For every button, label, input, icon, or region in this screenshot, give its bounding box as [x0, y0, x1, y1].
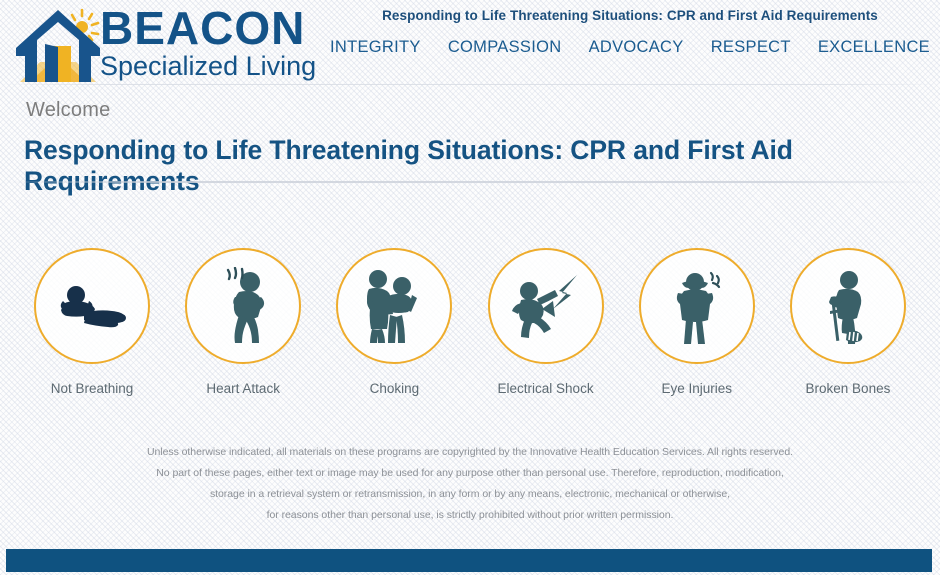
topic-label-not-breathing: Not Breathing [51, 381, 134, 396]
header-divider [0, 84, 940, 85]
topic-circle-heart-attack[interactable] [185, 248, 301, 364]
person-with-crutch-cast-icon [819, 267, 877, 345]
copyright-line-3: storage in a retrieval system or retrans… [70, 488, 870, 501]
footer-bar [6, 549, 932, 572]
title-divider [0, 181, 940, 183]
nav-value-advocacy[interactable]: ADVOCACY [589, 38, 684, 57]
topic-item-eye-injuries[interactable]: Eye Injuries [623, 248, 771, 396]
topic-item-heart-attack[interactable]: Heart Attack [169, 248, 317, 396]
nav-value-excellence[interactable]: EXCELLENCE [818, 38, 930, 57]
header-course-title: Responding to Life Threatening Situation… [330, 8, 930, 23]
copyright-line-4: for reasons other than personal use, is … [70, 509, 870, 522]
person-clutching-chest-icon [215, 267, 271, 345]
topic-item-broken-bones[interactable]: Broken Bones [774, 248, 922, 396]
brand-wordmark: BEACON Specialized Living [100, 8, 330, 80]
welcome-label: Welcome [26, 99, 110, 122]
nav-value-compassion[interactable]: COMPASSION [448, 38, 562, 57]
copyright-line-2: No part of these pages, either text or i… [70, 467, 870, 480]
nav-value-respect[interactable]: RESPECT [711, 38, 791, 57]
topic-item-choking[interactable]: Choking [320, 248, 468, 396]
topic-label-choking: Choking [370, 381, 420, 396]
topic-circle-not-breathing[interactable] [34, 248, 150, 364]
topic-label-heart-attack: Heart Attack [206, 381, 280, 396]
copyright-notice: Unless otherwise indicated, all material… [70, 446, 870, 530]
brand-logo[interactable]: BEACON Specialized Living [12, 2, 322, 84]
topic-icon-row: Not Breathing [18, 248, 922, 396]
core-values-nav: INTEGRITY COMPASSION ADVOCACY RESPECT EX… [330, 38, 930, 57]
site-header: BEACON Specialized Living Responding to … [0, 0, 940, 84]
topic-circle-choking[interactable] [336, 248, 452, 364]
topic-label-broken-bones: Broken Bones [806, 381, 891, 396]
topic-item-electrical-shock[interactable]: Electrical Shock [472, 248, 620, 396]
topic-label-eye-injuries: Eye Injuries [661, 381, 732, 396]
brand-name-primary: BEACON [100, 8, 330, 48]
copyright-line-1: Unless otherwise indicated, all material… [70, 446, 870, 459]
brand-name-secondary: Specialized Living [100, 52, 330, 80]
heimlich-maneuver-icon [360, 267, 428, 345]
house-with-sun-icon [12, 6, 104, 84]
person-lightning-bolt-icon [509, 269, 583, 343]
topic-label-electrical-shock: Electrical Shock [498, 381, 594, 396]
nav-value-integrity[interactable]: INTEGRITY [330, 38, 421, 57]
topic-item-not-breathing[interactable]: Not Breathing [18, 248, 166, 396]
person-holding-eyes-icon [671, 267, 723, 345]
topic-circle-electrical-shock[interactable] [488, 248, 604, 364]
topic-circle-broken-bones[interactable] [790, 248, 906, 364]
topic-circle-eye-injuries[interactable] [639, 248, 755, 364]
person-lying-unconscious-icon [55, 279, 129, 333]
page-title: Responding to Life Threatening Situation… [24, 135, 914, 197]
